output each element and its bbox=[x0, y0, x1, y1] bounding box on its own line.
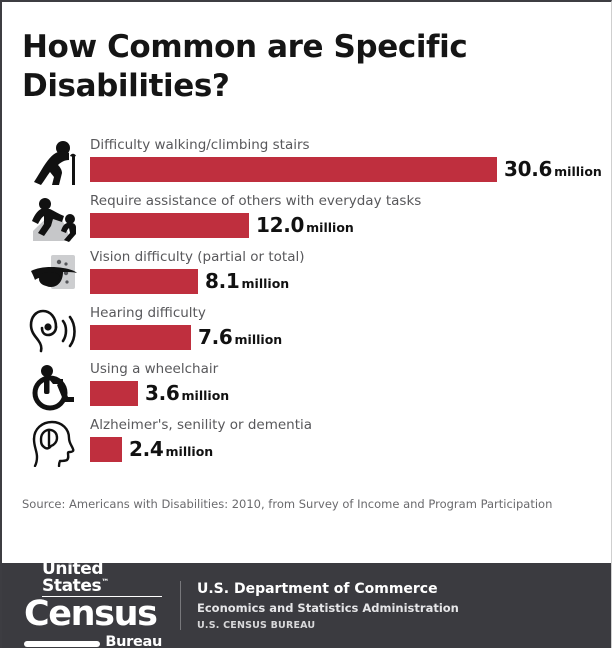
row-label: Hearing difficulty bbox=[90, 305, 206, 321]
chart-row: Alzheimer's, senility or dementia 2.4mil… bbox=[20, 415, 611, 471]
chart-row: Hearing difficulty 7.6million bbox=[20, 303, 611, 359]
row-body: Alzheimer's, senility or dementia 2.4mil… bbox=[90, 415, 611, 471]
value-unit: million bbox=[235, 332, 283, 347]
value-number: 2.4 bbox=[129, 437, 164, 461]
bar-line: 30.6million bbox=[90, 157, 611, 182]
value-number: 8.1 bbox=[205, 269, 240, 293]
chart-row: Difficulty walking/climbing stairs 30.6m… bbox=[20, 135, 611, 191]
agency-department: U.S. Department of Commerce bbox=[197, 581, 459, 597]
value-label: 3.6million bbox=[145, 381, 229, 405]
bar-line: 12.0million bbox=[90, 213, 611, 238]
value-label: 30.6million bbox=[504, 157, 602, 181]
value-unit: million bbox=[182, 388, 230, 403]
value-bar bbox=[90, 213, 249, 238]
logo-census: Census bbox=[24, 597, 162, 633]
row-label: Alzheimer's, senility or dementia bbox=[90, 417, 312, 433]
value-bar bbox=[90, 437, 122, 462]
bar-chart: Difficulty walking/climbing stairs 30.6m… bbox=[2, 135, 611, 471]
logo-bottom-row: Bureau bbox=[24, 634, 162, 648]
person-with-cane-icon bbox=[20, 135, 88, 191]
logo-bar-shape bbox=[24, 641, 100, 647]
value-unit: million bbox=[242, 276, 290, 291]
sunglasses-braille-icon bbox=[20, 247, 88, 303]
value-unit: million bbox=[306, 220, 354, 235]
value-number: 3.6 bbox=[145, 381, 180, 405]
person-helping-person-icon bbox=[20, 191, 88, 247]
chart-row: Require assistance of others with everyd… bbox=[20, 191, 611, 247]
value-bar bbox=[90, 269, 198, 294]
value-number: 7.6 bbox=[198, 325, 233, 349]
logo-bureau: Bureau bbox=[105, 634, 162, 648]
bar-line: 8.1million bbox=[90, 269, 611, 294]
wheelchair-icon bbox=[20, 359, 88, 415]
census-logo: United States™ Census Bureau bbox=[24, 561, 176, 648]
row-label: Difficulty walking/climbing stairs bbox=[90, 137, 310, 153]
value-number: 12.0 bbox=[256, 213, 304, 237]
row-label: Require assistance of others with everyd… bbox=[90, 193, 421, 209]
row-label: Using a wheelchair bbox=[90, 361, 218, 377]
row-body: Hearing difficulty 7.6million bbox=[90, 303, 611, 359]
value-label: 2.4million bbox=[129, 437, 213, 461]
agency-block: U.S. Department of Commerce Economics an… bbox=[197, 581, 459, 631]
infographic-root: How Common are Specific Disabilities? Di… bbox=[0, 0, 612, 648]
value-number: 30.6 bbox=[504, 157, 552, 181]
row-label: Vision difficulty (partial or total) bbox=[90, 249, 305, 265]
source-note: Source: Americans with Disabilities: 201… bbox=[2, 497, 611, 511]
head-brain-icon bbox=[20, 415, 88, 471]
row-body: Difficulty walking/climbing stairs 30.6m… bbox=[90, 135, 611, 191]
agency-administration: Economics and Statistics Administration bbox=[197, 601, 459, 615]
value-unit: million bbox=[554, 164, 602, 179]
value-bar bbox=[90, 381, 138, 406]
row-body: Using a wheelchair 3.6million bbox=[90, 359, 611, 415]
logo-united-states: United States™ bbox=[24, 561, 162, 595]
value-bar bbox=[90, 325, 191, 350]
ear-soundwaves-icon bbox=[20, 303, 88, 359]
agency-bureau: U.S. CENSUS BUREAU bbox=[197, 620, 459, 631]
footer: United States™ Census Bureau U.S. Depart… bbox=[2, 563, 611, 648]
chart-row: Vision difficulty (partial or total) 8.1… bbox=[20, 247, 611, 303]
trademark-symbol: ™ bbox=[101, 578, 109, 587]
row-body: Require assistance of others with everyd… bbox=[90, 191, 611, 247]
bar-line: 7.6million bbox=[90, 325, 611, 350]
logo-united-states-text: United States bbox=[42, 559, 103, 596]
page-title: How Common are Specific Disabilities? bbox=[22, 28, 587, 106]
value-label: 12.0million bbox=[256, 213, 354, 237]
value-label: 8.1million bbox=[205, 269, 289, 293]
value-unit: million bbox=[166, 444, 214, 459]
chart-row: Using a wheelchair 3.6million bbox=[20, 359, 611, 415]
row-body: Vision difficulty (partial or total) 8.1… bbox=[90, 247, 611, 303]
footer-divider bbox=[180, 581, 181, 630]
title-block: How Common are Specific Disabilities? bbox=[2, 2, 611, 106]
value-bar bbox=[90, 157, 497, 182]
bar-line: 3.6million bbox=[90, 381, 611, 406]
bar-line: 2.4million bbox=[90, 437, 611, 462]
value-label: 7.6million bbox=[198, 325, 282, 349]
